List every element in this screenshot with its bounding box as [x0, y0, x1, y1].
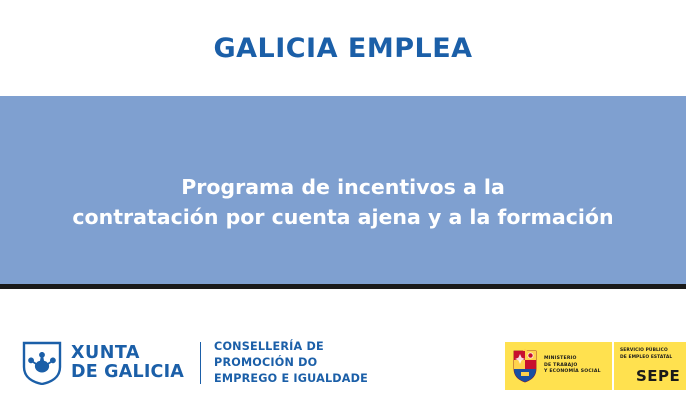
ministerio-line-1: MINISTERIO: [544, 356, 601, 363]
xunta-wordmark: XUNTA DE GALICIA: [71, 344, 184, 382]
sepe-desc-line-2: DE EMPLEO ESTATAL: [620, 355, 672, 362]
sepe-block: SERVICIO PÚBLICO DE EMPLEO ESTATAL SEPE: [612, 342, 686, 390]
gobierno-de-espana-logo: MINISTERIO DE TRABAJO Y ECONOMÍA SOCIAL …: [505, 342, 686, 390]
page-title: GALICIA EMPLEA: [213, 33, 472, 64]
conselleria-line-3: EMPREGO E IGUALDADE: [214, 371, 368, 387]
ministerio-text: MINISTERIO DE TRABAJO Y ECONOMÍA SOCIAL: [544, 356, 601, 377]
subtitle-line-1: Programa de incentivos a la: [72, 173, 613, 203]
spain-coat-of-arms-icon: [511, 348, 539, 384]
subtitle-line-2: contratación por cuenta ajena y a la for…: [72, 203, 613, 233]
ministerio-block: MINISTERIO DE TRABAJO Y ECONOMÍA SOCIAL: [505, 342, 612, 390]
subtitle-band: Programa de incentivos a la contratación…: [0, 96, 686, 284]
sepe-acronym: SEPE: [636, 367, 680, 385]
conselleria-line-2: PROMOCIÓN DO: [214, 355, 368, 371]
title-zone: GALICIA EMPLEA: [0, 0, 686, 96]
xunta-de-galicia-logo: XUNTA DE GALICIA CONSELLERÍA DE PROMOCIÓ…: [22, 339, 368, 387]
xunta-word-line-1: XUNTA: [71, 344, 184, 363]
sepe-desc-line-1: SERVICIO PÚBLICO: [620, 348, 672, 355]
conselleria-line-1: CONSELLERÍA DE: [214, 339, 368, 355]
ministerio-line-3: Y ECONOMÍA SOCIAL: [544, 369, 601, 376]
subtitle: Programa de incentivos a la contratación…: [50, 147, 635, 232]
logo-separator: [200, 342, 201, 384]
footer: XUNTA DE GALICIA CONSELLERÍA DE PROMOCIÓ…: [0, 289, 686, 410]
sepe-description: SERVICIO PÚBLICO DE EMPLEO ESTATAL: [620, 348, 672, 361]
conselleria-text: CONSELLERÍA DE PROMOCIÓN DO EMPREGO E IG…: [214, 339, 368, 387]
poster-page: GALICIA EMPLEA Programa de incentivos a …: [0, 0, 686, 410]
xunta-shield-icon: [22, 341, 62, 385]
xunta-word-line-2: DE GALICIA: [71, 363, 184, 382]
